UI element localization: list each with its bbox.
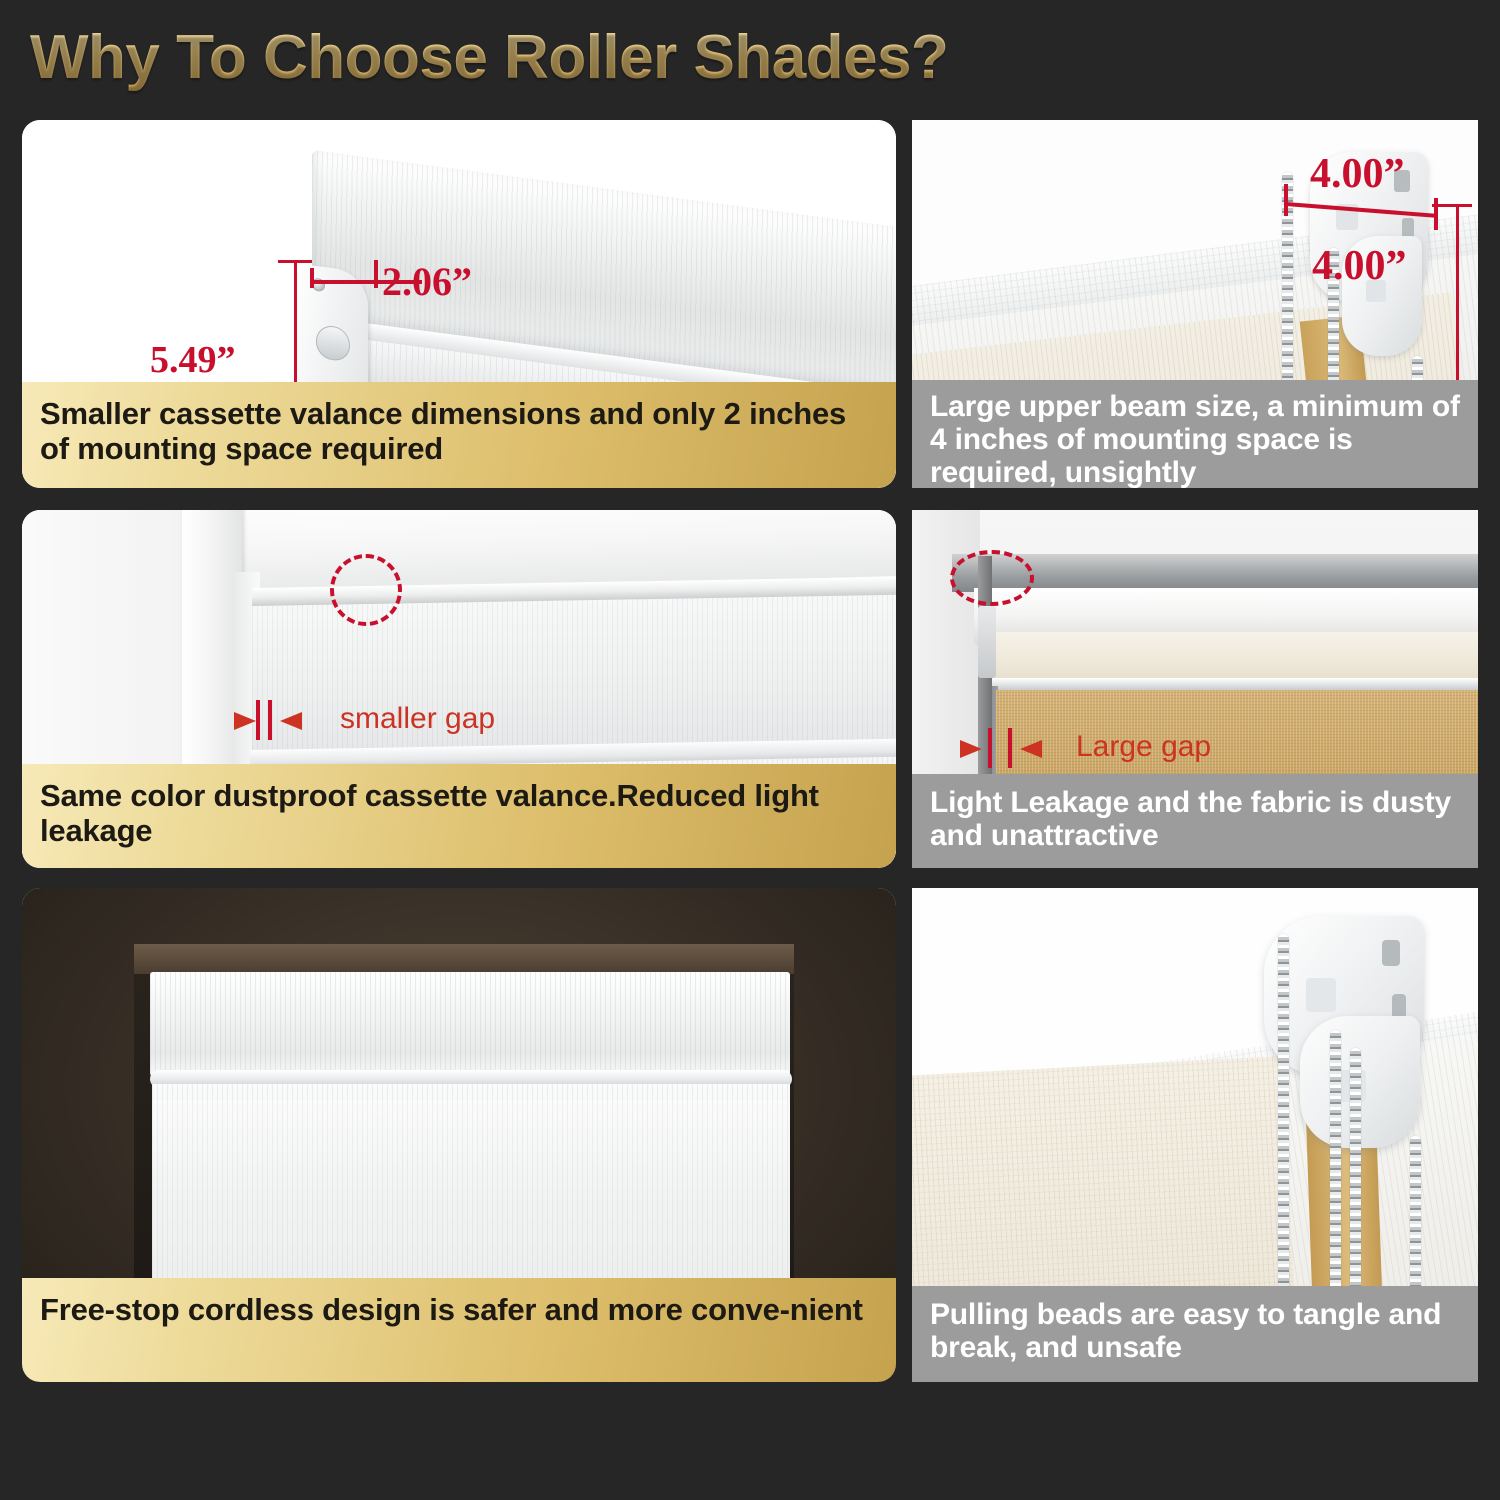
panel-middle-left: smaller gap Same color dustproof cassett… [22, 510, 896, 868]
dim-tick-width-left [1284, 184, 1288, 216]
caption-bottom-left: Free-stop cordless design is safer and m… [22, 1278, 896, 1382]
page-title: Why To Choose Roller Shades? [30, 22, 948, 93]
gap-label-smaller: smaller gap [340, 702, 495, 736]
dim-tick-width-left [310, 268, 314, 288]
gap-label-large: Large gap [1076, 730, 1211, 764]
gap-mark-left [988, 728, 992, 768]
arrow-right-icon [200, 708, 260, 734]
highlight-circle-icon [950, 550, 1034, 606]
dim-tick-height-top [1432, 204, 1472, 207]
dimension-label-height: 5.49” [150, 338, 236, 382]
panel-bottom-right: Pulling beads are easy to tangle and bre… [912, 888, 1478, 1382]
dimension-label-width: 4.00” [1310, 150, 1405, 198]
panel-top-right: 4.00” 4.00” Large upper beam size, a min… [912, 120, 1478, 488]
dim-tick-width-right [374, 260, 378, 288]
arrow-left-icon [276, 708, 336, 734]
dim-tick-width-right [1434, 198, 1438, 230]
arrow-right-icon [930, 736, 986, 762]
dim-tick-height-top [278, 260, 312, 263]
gap-mark-right [1008, 728, 1012, 768]
dimension-label-height: 4.00” [1312, 242, 1407, 290]
panel-top-left: 2.06” 5.49” Smaller cassette valance dim… [22, 120, 896, 488]
panel-middle-right: Large gap Light Leakage and the fabric i… [912, 510, 1478, 868]
caption-bottom-right: Pulling beads are easy to tangle and bre… [912, 1286, 1478, 1382]
arrow-left-icon [1016, 736, 1072, 762]
panel-bottom-left: Free-stop cordless design is safer and m… [22, 888, 896, 1382]
gap-mark-right [268, 700, 272, 740]
dimension-label-width: 2.06” [382, 258, 472, 305]
highlight-circle-icon [330, 554, 402, 626]
infographic-root: Why To Choose Roller Shades? 2.06” [0, 0, 1500, 1500]
caption-middle-right: Light Leakage and the fabric is dusty an… [912, 774, 1478, 868]
caption-top-right: Large upper beam size, a minimum of 4 in… [912, 380, 1478, 488]
caption-middle-left: Same color dustproof cassette valance.Re… [22, 764, 896, 868]
caption-top-left: Smaller cassette valance dimensions and … [22, 382, 896, 488]
